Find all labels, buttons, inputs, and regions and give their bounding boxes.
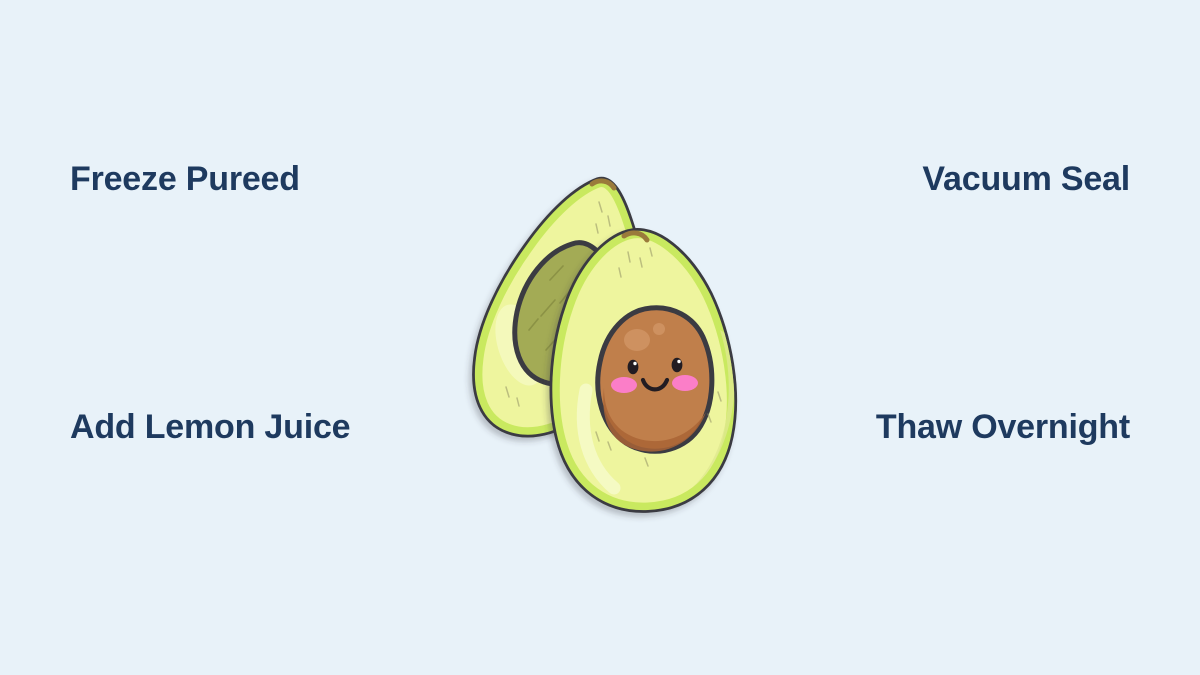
right-cheek-blush-icon — [672, 375, 698, 391]
label-add-lemon-juice: Add Lemon Juice — [70, 400, 400, 454]
left-eye-glint — [633, 362, 636, 365]
left-cheek-blush-icon — [611, 377, 637, 393]
label-thaw-overnight: Thaw Overnight — [790, 400, 1130, 454]
label-vacuum-seal: Vacuum Seal — [790, 152, 1130, 206]
avocado-front-half — [552, 231, 734, 510]
right-eye-icon — [672, 358, 683, 372]
pit-highlight-small — [653, 323, 665, 335]
avocado-pit — [598, 308, 712, 452]
avocado-illustration — [400, 140, 800, 540]
label-freeze-pureed: Freeze Pureed — [70, 152, 400, 206]
pit-highlight-large — [624, 329, 650, 351]
slide-canvas: Freeze Pureed Vacuum Seal Add Lemon Juic… — [0, 0, 1200, 675]
left-eye-icon — [628, 360, 639, 374]
right-eye-glint — [677, 360, 680, 363]
avocado-illustration-svg — [400, 140, 800, 540]
